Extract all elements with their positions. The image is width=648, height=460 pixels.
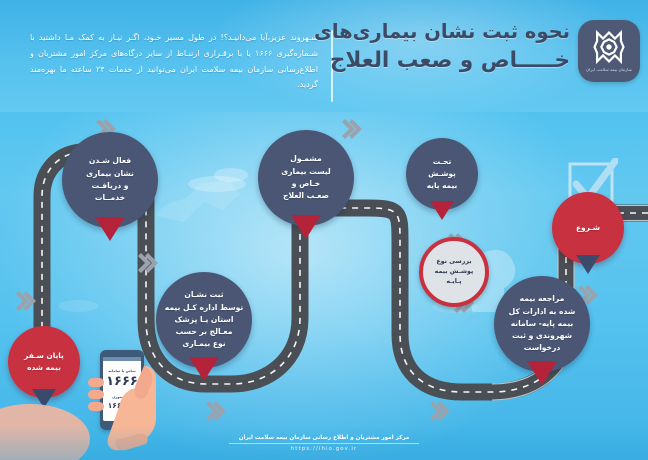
step-covered-by-basic-insurance-bubble: تحـت پوشـش بیمه پایه <box>406 138 478 210</box>
step-covered-by-basic-insurance[interactable]: تحـت پوشـش بیمه پایه <box>406 138 478 228</box>
start-marker[interactable]: شـروع <box>552 192 624 282</box>
chevron-arrows-down <box>14 288 40 322</box>
step-covered-by-basic-insurance-tail <box>430 201 454 220</box>
step-covered-by-basic-insurance-label: تحـت پوشـش بیمه پایه <box>410 156 474 192</box>
end-marker[interactable]: پایان سـفر بیمه شده <box>8 326 80 416</box>
step-mark-activated-receive-services-label: فعال شـدن نشان بیماری و دریافـت خدمــات <box>66 155 154 204</box>
step-mark-activated-receive-services-tail <box>95 217 125 241</box>
end-marker-label: پایان سـفر بیمه شده <box>12 350 76 374</box>
footer-bar: مرکز امور مشتریان و اطلاع رسانی سازمان ب… <box>0 426 648 460</box>
footer-url[interactable]: https://ihio.gov.ir <box>291 446 357 452</box>
step-check-coverage-type-label: بررسی نوع پوشـش بیمه پـایـه <box>428 257 480 287</box>
page-title-line1: نحوه ثبت نشان بیماری‌های <box>270 20 570 45</box>
organization-logo: سازمان بیمه سلامت ایران <box>578 20 640 82</box>
organization-logo-caption: سازمان بیمه سلامت ایران <box>586 67 632 72</box>
end-marker-bubble: پایان سـفر بیمه شده <box>8 326 80 398</box>
step-included-in-disease-list-bubble: مشمـول لیست بیماری خـاص و صعـب العلاج <box>258 130 354 226</box>
step-register-mark-by-office-or-doctor-label: ثبت نشـان توسط اداره کـل بیمه استان یـا … <box>160 289 248 350</box>
step-mark-activated-receive-services[interactable]: فعال شـدن نشان بیماری و دریافـت خدمــات <box>62 132 158 248</box>
start-marker-bubble: شـروع <box>552 192 624 264</box>
header-band: شـهروند عزیز،آیا می‌دانیـد؟! در طول مسیر… <box>0 0 648 112</box>
step-included-in-disease-list-tail <box>291 215 321 239</box>
page-title-line2: خـــــاص و صعب العلاج <box>270 47 570 75</box>
page-title: نحوه ثبت نشان بیماری‌های خـــــاص و صعب … <box>270 20 570 74</box>
footer-divider <box>229 443 419 444</box>
islamic-star-logo-icon <box>592 30 626 64</box>
step-included-in-disease-list[interactable]: مشمـول لیست بیماری خـاص و صعـب العلاج <box>258 130 354 246</box>
step-visit-insurance-office-bubble: مراجعه بیمه شده به ادارات کل بیمه پایه- … <box>494 276 590 372</box>
step-mark-activated-receive-services-bubble: فعال شـدن نشان بیماری و دریافـت خدمــات <box>62 132 158 228</box>
footer-organization: مرکز امور مشتریان و اطلاع رسانی سازمان ب… <box>239 435 410 441</box>
start-marker-tail <box>576 255 600 274</box>
step-visit-insurance-office[interactable]: مراجعه بیمه شده به ادارات کل بیمه پایه- … <box>494 276 590 392</box>
step-visit-insurance-office-tail <box>527 361 557 385</box>
infographic-canvas: شـروع مراجعه بیمه شده به ادارات کل بیمه … <box>0 0 648 460</box>
step-check-coverage-type[interactable]: بررسی نوع پوشـش بیمه پـایـه <box>419 237 489 307</box>
step-visit-insurance-office-label: مراجعه بیمه شده به ادارات کل بیمه پایه- … <box>498 293 586 354</box>
step-included-in-disease-list-label: مشمـول لیست بیماری خـاص و صعـب العلاج <box>262 153 350 202</box>
start-marker-label: شـروع <box>556 222 620 233</box>
